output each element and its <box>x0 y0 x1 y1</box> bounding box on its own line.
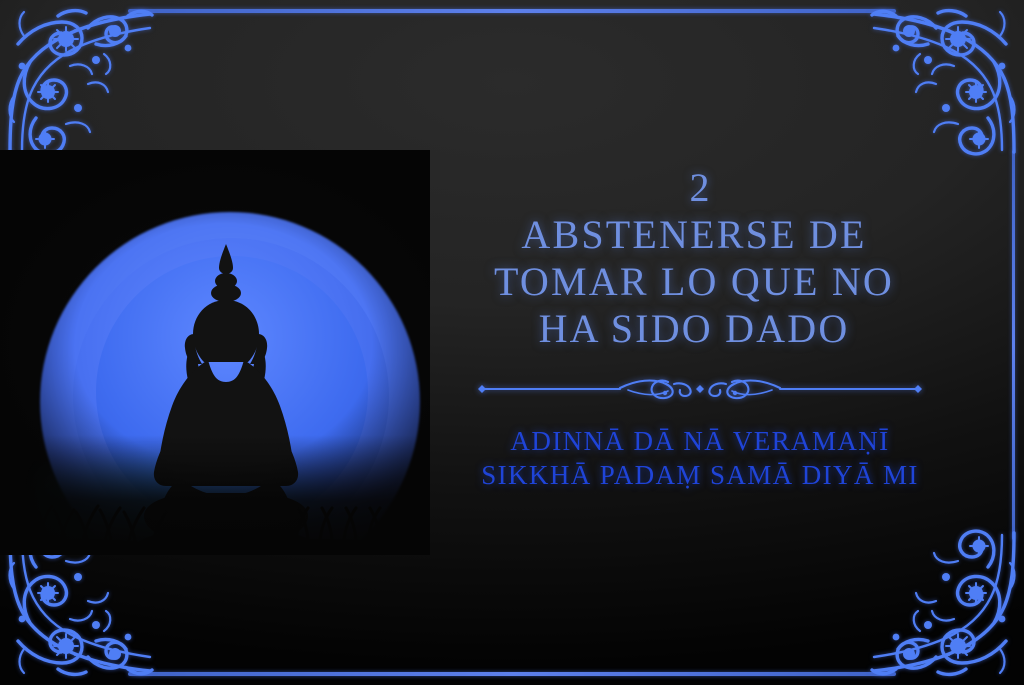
heading-line-1: ABSTENERSE DE <box>434 212 954 259</box>
pali-verse: ADINNĀ DĀ NĀ VERAMAṆĪ SIKKHĀ PADAṂ SAMĀ … <box>440 424 960 492</box>
buddha-illustration <box>0 150 430 555</box>
pali-line-1: ADINNĀ DĀ NĀ VERAMAṆĪ <box>440 424 960 458</box>
heading-line-2: TOMAR LO QUE NO <box>434 259 954 306</box>
corner-ornament-top-left <box>0 0 160 160</box>
text-column: 2 ABSTENERSE DE TOMAR LO QUE NO HA SIDO … <box>440 0 960 685</box>
grass-silhouette <box>0 450 430 555</box>
precept-heading: ABSTENERSE DE TOMAR LO QUE NO HA SIDO DA… <box>434 212 954 352</box>
pali-line-2: SIKKHĀ PADAṂ SAMĀ DIYĀ MI <box>440 458 960 492</box>
precept-slide: 2 ABSTENERSE DE TOMAR LO QUE NO HA SIDO … <box>0 0 1024 685</box>
illustration-inner <box>0 150 430 555</box>
precept-number: 2 <box>440 168 960 208</box>
flourish-divider <box>468 372 932 406</box>
heading-line-3: HA SIDO DADO <box>434 306 954 353</box>
frame-line-right <box>1012 150 1015 540</box>
